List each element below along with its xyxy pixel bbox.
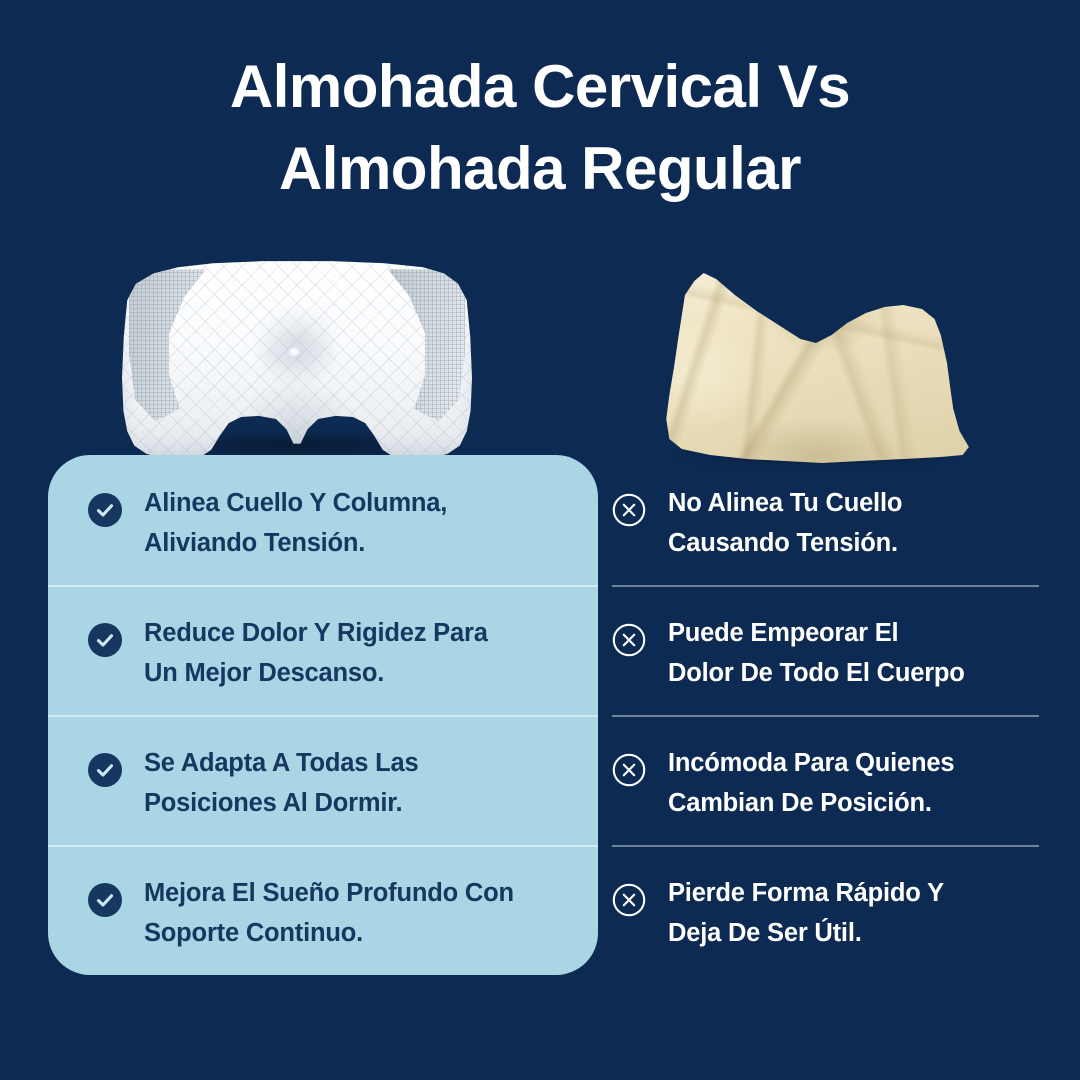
pillow-comparison-images — [0, 255, 1080, 470]
check-circle-icon — [88, 873, 144, 917]
benefit-text-line-1: Reduce Dolor Y Rigidez Para — [144, 619, 488, 647]
regular-pillow-image — [660, 263, 972, 463]
cervical-pillow-highlight — [288, 347, 300, 357]
benefit-text: Se Adapta A Todas Las Posiciones Al Dorm… — [144, 743, 568, 823]
check-circle-icon — [88, 483, 144, 527]
drawback-row: Pierde Forma Rápido Y Deja De Ser Útil. — [612, 845, 1034, 975]
title-line-2: Almohada Regular — [0, 128, 1080, 210]
drawback-text-line-1: Incómoda Para Quienes — [668, 749, 954, 777]
benefit-row: Se Adapta A Todas Las Posiciones Al Dorm… — [88, 715, 568, 845]
drawback-text: Pierde Forma Rápido Y Deja De Ser Útil. — [668, 873, 1034, 953]
benefit-text-line-1: Alinea Cuello Y Columna, — [144, 489, 447, 517]
check-circle-icon — [88, 613, 144, 657]
cervical-pillow-body — [122, 255, 472, 460]
drawback-text-line-2: Deja De Ser Útil. — [668, 919, 862, 947]
benefit-text-line-2: Posiciones Al Dormir. — [144, 789, 402, 817]
check-circle-icon — [88, 743, 144, 787]
drawback-row: Incómoda Para Quienes Cambian De Posició… — [612, 715, 1034, 845]
benefit-text: Mejora El Sueño Profundo Con Soporte Con… — [144, 873, 568, 953]
drawback-text: No Alinea Tu Cuello Causando Tensión. — [668, 483, 1034, 563]
drawback-text: Puede Empeorar El Dolor De Todo El Cuerp… — [668, 613, 1034, 693]
regular-pillow-body — [660, 263, 972, 463]
drawback-text-line-1: Pierde Forma Rápido Y — [668, 879, 944, 907]
benefit-row: Reduce Dolor Y Rigidez Para Un Mejor Des… — [88, 585, 568, 715]
benefit-text-line-2: Aliviando Tensión. — [144, 529, 365, 557]
drawback-row: No Alinea Tu Cuello Causando Tensión. — [612, 455, 1034, 585]
benefit-text-line-1: Mejora El Sueño Profundo Con — [144, 879, 514, 907]
drawback-text-line-2: Causando Tensión. — [668, 529, 898, 557]
cervical-pillow-center-contour — [213, 271, 381, 443]
drawback-text-line-1: No Alinea Tu Cuello — [668, 489, 902, 517]
benefit-text-line-2: Soporte Continuo. — [144, 919, 363, 947]
x-circle-icon — [612, 483, 668, 527]
x-circle-icon — [612, 613, 668, 657]
regular-pillow-wrinkles — [660, 263, 972, 463]
benefit-row: Mejora El Sueño Profundo Con Soporte Con… — [88, 845, 568, 975]
benefits-column: Alinea Cuello Y Columna, Aliviando Tensi… — [48, 455, 598, 975]
x-circle-icon — [612, 743, 668, 787]
drawback-row: Puede Empeorar El Dolor De Todo El Cuerp… — [612, 585, 1034, 715]
comparison-columns: Alinea Cuello Y Columna, Aliviando Tensi… — [0, 455, 1080, 975]
benefit-text: Reduce Dolor Y Rigidez Para Un Mejor Des… — [144, 613, 568, 693]
x-circle-icon — [612, 873, 668, 917]
drawback-text: Incómoda Para Quienes Cambian De Posició… — [668, 743, 1034, 823]
drawback-text-line-2: Dolor De Todo El Cuerpo — [668, 659, 965, 687]
cervical-pillow-image — [122, 255, 472, 460]
title-line-1: Almohada Cervical Vs — [0, 46, 1080, 128]
drawback-text-line-2: Cambian De Posición. — [668, 789, 932, 817]
infographic-page: Almohada Cervical Vs Almohada Regular — [0, 0, 1080, 1080]
benefit-text-line-1: Se Adapta A Todas Las — [144, 749, 418, 777]
drawbacks-column: No Alinea Tu Cuello Causando Tensión. Pu… — [600, 455, 1040, 975]
benefit-text: Alinea Cuello Y Columna, Aliviando Tensi… — [144, 483, 568, 563]
benefit-row: Alinea Cuello Y Columna, Aliviando Tensi… — [88, 455, 568, 585]
drawback-text-line-1: Puede Empeorar El — [668, 619, 898, 647]
page-title: Almohada Cervical Vs Almohada Regular — [0, 46, 1080, 210]
benefit-text-line-2: Un Mejor Descanso. — [144, 659, 384, 687]
